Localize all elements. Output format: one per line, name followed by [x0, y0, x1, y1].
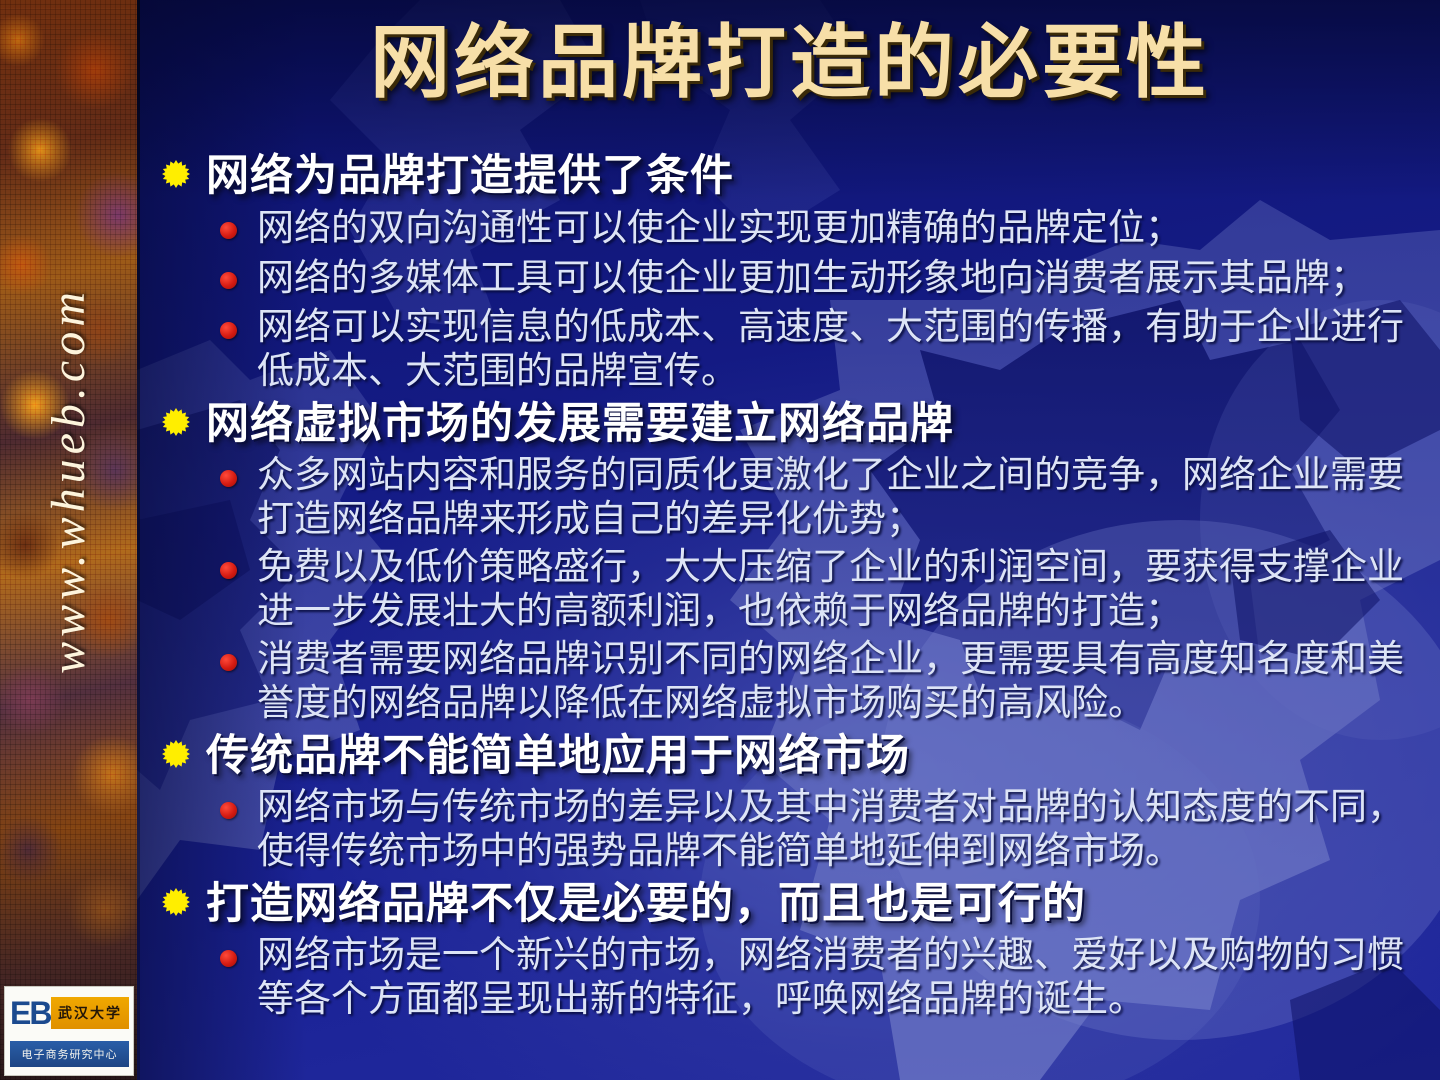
star-bullet-icon	[162, 740, 192, 770]
level2-bullet-item: 网络可以实现信息的低成本、高速度、大范围的传播，有助于企业进行低成本、大范围的品…	[150, 306, 1430, 394]
level2-text: 网络市场与传统市场的差异以及其中消费者对品牌的认知态度的不同，使得传统市场中的强…	[257, 786, 1430, 874]
content-section: 网络为品牌打造提供了条件 网络的双向沟通性可以使企业实现更加精确的品牌定位； 网…	[150, 150, 1430, 394]
level1-bullet-item: 网络虚拟市场的发展需要建立网络品牌	[150, 398, 1430, 452]
level2-bullet-item: 网络市场是一个新兴的市场，网络消费者的兴趣、爱好以及购物的习惯等各个方面都呈现出…	[150, 934, 1430, 1022]
dot-bullet-icon	[220, 272, 240, 292]
slide-title: 网络品牌打造的必要性	[150, 16, 1430, 112]
level2-bullet-item: 网络的双向沟通性可以使企业实现更加精确的品牌定位；	[150, 206, 1430, 252]
level1-heading: 传统品牌不能简单地应用于网络市场	[206, 730, 910, 784]
level1-bullet-item: 网络为品牌打造提供了条件	[150, 150, 1430, 204]
slide-body: 网络为品牌打造提供了条件 网络的双向沟通性可以使企业实现更加精确的品牌定位； 网…	[150, 150, 1430, 1026]
sidebar-website-url: www.whueb.com	[0, 0, 137, 960]
presentation-slide: www.whueb.com EB 武汉大学 电子商务研究中心 网络品牌打造的必要…	[0, 0, 1440, 1080]
level2-bullet-item: 众多网站内容和服务的同质化更激化了企业之间的竞争，网络企业需要打造网络品牌来形成…	[150, 454, 1430, 542]
content-section: 打造网络品牌不仅是必要的，而且也是可行的 网络市场是一个新兴的市场，网络消费者的…	[150, 878, 1430, 1022]
star-bullet-icon	[162, 160, 192, 190]
level1-heading: 网络虚拟市场的发展需要建立网络品牌	[206, 398, 954, 452]
level1-heading: 打造网络品牌不仅是必要的，而且也是可行的	[206, 878, 1086, 932]
dot-bullet-icon	[220, 322, 240, 342]
content-section: 网络虚拟市场的发展需要建立网络品牌 众多网站内容和服务的同质化更激化了企业之间的…	[150, 398, 1430, 726]
level2-text: 网络的多媒体工具可以使企业更加生动形象地向消费者展示其品牌；	[257, 256, 1430, 302]
sidebar-edge-shadow	[137, 0, 140, 1080]
star-bullet-icon	[162, 408, 192, 438]
level2-text: 网络的双向沟通性可以使企业实现更加精确的品牌定位；	[257, 206, 1430, 252]
sidebar-banner: www.whueb.com EB 武汉大学 电子商务研究中心	[0, 0, 137, 1080]
level2-bullet-item: 网络的多媒体工具可以使企业更加生动形象地向消费者展示其品牌；	[150, 256, 1430, 302]
level2-text: 众多网站内容和服务的同质化更激化了企业之间的竞争，网络企业需要打造网络品牌来形成…	[257, 454, 1430, 542]
level2-text: 网络可以实现信息的低成本、高速度、大范围的传播，有助于企业进行低成本、大范围的品…	[257, 306, 1430, 394]
level2-bullet-item: 网络市场与传统市场的差异以及其中消费者对品牌的认知态度的不同，使得传统市场中的强…	[150, 786, 1430, 874]
dot-bullet-icon	[220, 802, 240, 822]
level1-heading: 网络为品牌打造提供了条件	[206, 150, 734, 204]
logo-university-name: 武汉大学	[51, 997, 129, 1029]
logo-center-name: 电子商务研究中心	[10, 1041, 129, 1067]
dot-bullet-icon	[220, 222, 240, 242]
dot-bullet-icon	[220, 562, 240, 582]
star-bullet-icon	[162, 888, 192, 918]
level1-bullet-item: 传统品牌不能简单地应用于网络市场	[150, 730, 1430, 784]
dot-bullet-icon	[220, 654, 240, 674]
sidebar-url-text: www.whueb.com	[41, 287, 96, 674]
dot-bullet-icon	[220, 470, 240, 490]
logo-eb-mark: EB	[10, 993, 48, 1033]
content-section: 传统品牌不能简单地应用于网络市场 网络市场与传统市场的差异以及其中消费者对品牌的…	[150, 730, 1430, 874]
level2-text: 消费者需要网络品牌识别不同的网络企业，更需要具有高度知名度和美誉度的网络品牌以降…	[257, 638, 1430, 726]
level2-bullet-item: 消费者需要网络品牌识别不同的网络企业，更需要具有高度知名度和美誉度的网络品牌以降…	[150, 638, 1430, 726]
dot-bullet-icon	[220, 950, 240, 970]
organization-logo: EB 武汉大学 电子商务研究中心	[4, 986, 134, 1076]
level2-text: 免费以及低价策略盛行，大大压缩了企业的利润空间，要获得支撑企业进一步发展壮大的高…	[257, 546, 1430, 634]
level1-bullet-item: 打造网络品牌不仅是必要的，而且也是可行的	[150, 878, 1430, 932]
level2-bullet-item: 免费以及低价策略盛行，大大压缩了企业的利润空间，要获得支撑企业进一步发展壮大的高…	[150, 546, 1430, 634]
level2-text: 网络市场是一个新兴的市场，网络消费者的兴趣、爱好以及购物的习惯等各个方面都呈现出…	[257, 934, 1430, 1022]
